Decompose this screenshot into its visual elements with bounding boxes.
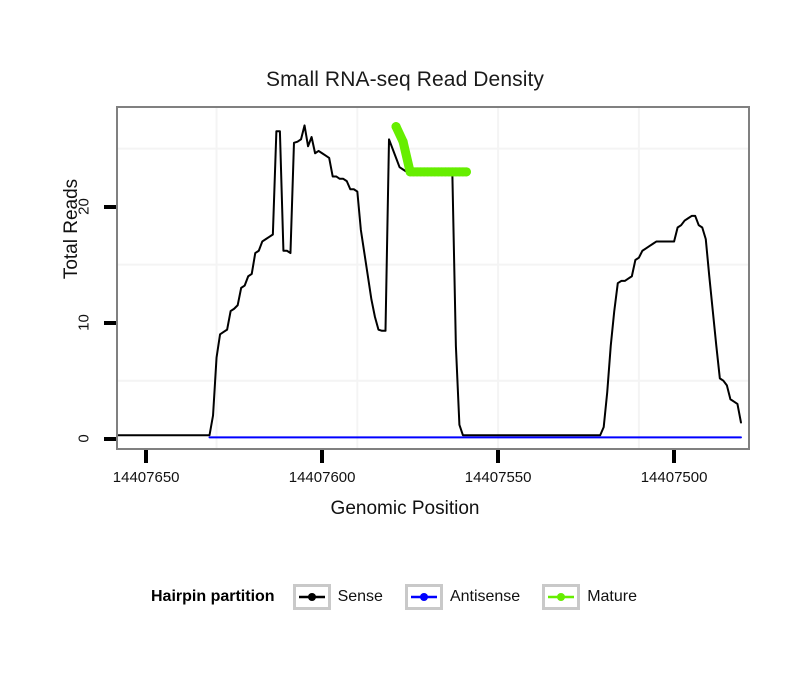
x-tick-mark <box>144 450 148 463</box>
y-tick-mark <box>104 321 116 325</box>
plot-canvas <box>118 108 748 448</box>
series-point-mature <box>392 122 401 131</box>
legend-entry-mature[interactable]: Mature <box>542 584 651 610</box>
legend-label: Mature <box>587 588 637 606</box>
x-tick-label: 14407500 <box>614 469 734 486</box>
x-tick-mark <box>320 450 324 463</box>
legend-key-icon <box>542 584 580 610</box>
x-axis-label: Genomic Position <box>0 498 810 520</box>
legend-label: Sense <box>338 588 383 606</box>
x-tick-mark <box>496 450 500 463</box>
chart-page: Small RNA-seq Read Density Total Reads G… <box>0 0 810 690</box>
chart-legend: Hairpin partition SenseAntisenseMature <box>0 584 810 610</box>
y-tick-label: 0 <box>76 418 93 458</box>
series-point-mature <box>399 137 408 146</box>
x-tick-label: 14407650 <box>86 469 206 486</box>
y-tick-mark <box>104 437 116 441</box>
legend-entry-list: SenseAntisenseMature <box>293 584 659 610</box>
plot-area <box>116 106 750 450</box>
y-tick-label: 10 <box>76 302 93 342</box>
y-axis-label: Total Reads <box>61 149 83 309</box>
legend-key-icon <box>405 584 443 610</box>
y-tick-mark <box>104 205 116 209</box>
x-tick-label: 14407600 <box>262 469 382 486</box>
y-tick-label: 20 <box>76 186 93 226</box>
chart-title: Small RNA-seq Read Density <box>0 68 810 92</box>
legend-title: Hairpin partition <box>151 588 275 606</box>
x-tick-label: 14407550 <box>438 469 558 486</box>
legend-key-icon <box>293 584 331 610</box>
legend-entry-sense[interactable]: Sense <box>293 584 397 610</box>
x-tick-mark <box>672 450 676 463</box>
series-point-mature <box>462 167 471 176</box>
legend-entry-antisense[interactable]: Antisense <box>405 584 534 610</box>
legend-label: Antisense <box>450 588 520 606</box>
